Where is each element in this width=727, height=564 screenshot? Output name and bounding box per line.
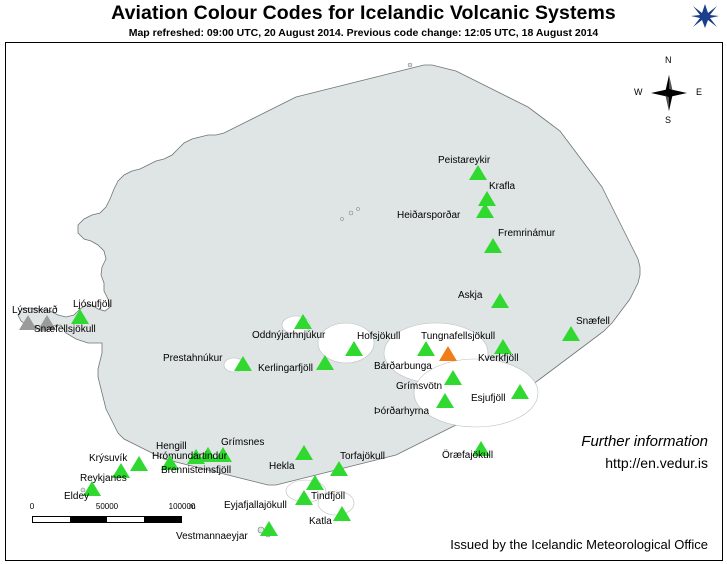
volcano-marker--r-arhyrna[interactable] bbox=[436, 393, 454, 408]
volcano-marker-kr-suv-k[interactable] bbox=[130, 456, 148, 471]
volcano-label-askja: Askja bbox=[458, 290, 482, 301]
volcano-marker-katla[interactable] bbox=[333, 506, 351, 521]
volcano-marker-hekla[interactable] bbox=[295, 445, 313, 460]
volcano-label-esjufj-ll: Esjufjöll bbox=[471, 393, 505, 404]
volcano-marker-tungnafellsj-kull[interactable] bbox=[417, 341, 435, 356]
volcano-marker-hofsj-kull[interactable] bbox=[345, 341, 363, 356]
vedur-url-link[interactable]: http://en.vedur.is bbox=[605, 455, 708, 471]
compass-south-label: S bbox=[665, 115, 671, 125]
volcano-label-prestahn-kur: Prestahnúkur bbox=[163, 353, 222, 364]
volcano-label-peistareykir: Peistareykir bbox=[438, 155, 490, 166]
scale-tick-50000: 50000 bbox=[96, 502, 118, 511]
compass-west-label: W bbox=[634, 87, 643, 97]
met-office-logo bbox=[691, 4, 719, 28]
volcano-label-hekla: Hekla bbox=[269, 461, 295, 472]
volcano-marker-lj-sufj-ll[interactable] bbox=[71, 309, 89, 324]
volcano-marker-gr-msv-tn[interactable] bbox=[444, 370, 462, 385]
volcano-marker-peistareykir[interactable] bbox=[469, 165, 487, 180]
volcano-marker-fremrin-mur[interactable] bbox=[484, 238, 502, 253]
scale-tick-0: 0 bbox=[30, 502, 34, 511]
volcano-marker-prestahn-kur[interactable] bbox=[234, 356, 252, 371]
volcano-marker-sn-fell[interactable] bbox=[562, 326, 580, 341]
volcano-marker-kerlingarfj-ll[interactable] bbox=[316, 355, 334, 370]
volcano-marker-b-r-arbunga[interactable] bbox=[439, 346, 457, 361]
volcano-label-eyjafjallaj-kull: Eyjafjallajökull bbox=[224, 500, 287, 511]
compass-east-label: E bbox=[696, 87, 702, 97]
volcano-label-katla: Katla bbox=[309, 516, 332, 527]
map-refresh-subtitle: Map refreshed: 09:00 UTC, 20 August 2014… bbox=[0, 27, 727, 39]
volcano-label-kverkfj-ll: Kverkfjöll bbox=[478, 353, 519, 364]
volcano-label-sn-fellsj-kull: Snæfellsjökull bbox=[34, 324, 96, 335]
volcano-label-lj-sufj-ll: Ljósufjöll bbox=[73, 299, 112, 310]
scale-unit-label: m bbox=[189, 502, 196, 511]
volcano-marker-vestmannaeyjar[interactable] bbox=[260, 521, 278, 536]
scale-bar: 0 50000 100000 m bbox=[32, 502, 197, 528]
volcano-marker-hei-arspor-ar[interactable] bbox=[476, 203, 494, 218]
volcano-label--r-arhyrna: Þórðarhyrna bbox=[374, 406, 429, 417]
volcano-label-gr-msnes: Grímsnes bbox=[221, 437, 264, 448]
scale-bar-track bbox=[32, 516, 182, 523]
volcano-marker-oddn-jarhnj-kur[interactable] bbox=[294, 314, 312, 329]
volcano-marker-askja[interactable] bbox=[491, 293, 509, 308]
volcano-marker-kverkfj-ll[interactable] bbox=[494, 339, 512, 354]
volcano-label-fremrin-mur: Fremrinámur bbox=[498, 228, 555, 239]
further-information-label: Further information bbox=[581, 433, 708, 450]
issued-by-label: Issued by the Icelandic Meteorological O… bbox=[450, 537, 708, 552]
volcano-marker-esjufj-ll[interactable] bbox=[511, 384, 529, 399]
volcano-label-sn-fell: Snæfell bbox=[576, 316, 610, 327]
volcano-label-oddn-jarhnj-kur: Oddnýjarhnjúkur bbox=[252, 330, 325, 341]
volcano-marker-torfaj-kull[interactable] bbox=[330, 461, 348, 476]
map-canvas[interactable]: N S E W PeistareykirKraflaHeiðarsporðarF… bbox=[5, 42, 723, 561]
volcano-marker-eyjafjallaj-kull[interactable] bbox=[295, 490, 313, 505]
volcano-label--r-faj-kull: Öræfajökull bbox=[442, 450, 493, 461]
volcano-label-eldey: Eldey bbox=[64, 491, 89, 502]
volcano-label-hofsj-kull: Hofsjökull bbox=[357, 331, 400, 342]
volcano-label-vestmannaeyjar: Vestmannaeyjar bbox=[176, 531, 248, 542]
volcano-label-kerlingarfj-ll: Kerlingarfjöll bbox=[258, 363, 313, 374]
volcano-label-torfaj-kull: Torfajökull bbox=[340, 451, 385, 462]
page-title: Aviation Colour Codes for Icelandic Volc… bbox=[0, 2, 727, 25]
volcano-label-brennisteinsfj-ll: Brennisteinsfjöll bbox=[161, 465, 231, 476]
volcano-label-tungnafellsj-kull: Tungnafellsjökull bbox=[421, 331, 495, 342]
volcano-label-krafla: Krafla bbox=[489, 181, 515, 192]
volcano-label-tindfj-ll: Tindfjöll bbox=[311, 491, 345, 502]
volcano-label-gr-msv-tn: Grímsvötn bbox=[396, 381, 442, 392]
volcano-label-hei-arspor-ar: Heiðarsporðar bbox=[397, 210, 460, 221]
compass-rose: N S E W bbox=[634, 57, 704, 127]
compass-north-label: N bbox=[665, 55, 672, 65]
volcano-label-b-r-arbunga: Bárðarbunga bbox=[374, 361, 432, 372]
volcano-marker-tindfj-ll[interactable] bbox=[306, 475, 324, 490]
